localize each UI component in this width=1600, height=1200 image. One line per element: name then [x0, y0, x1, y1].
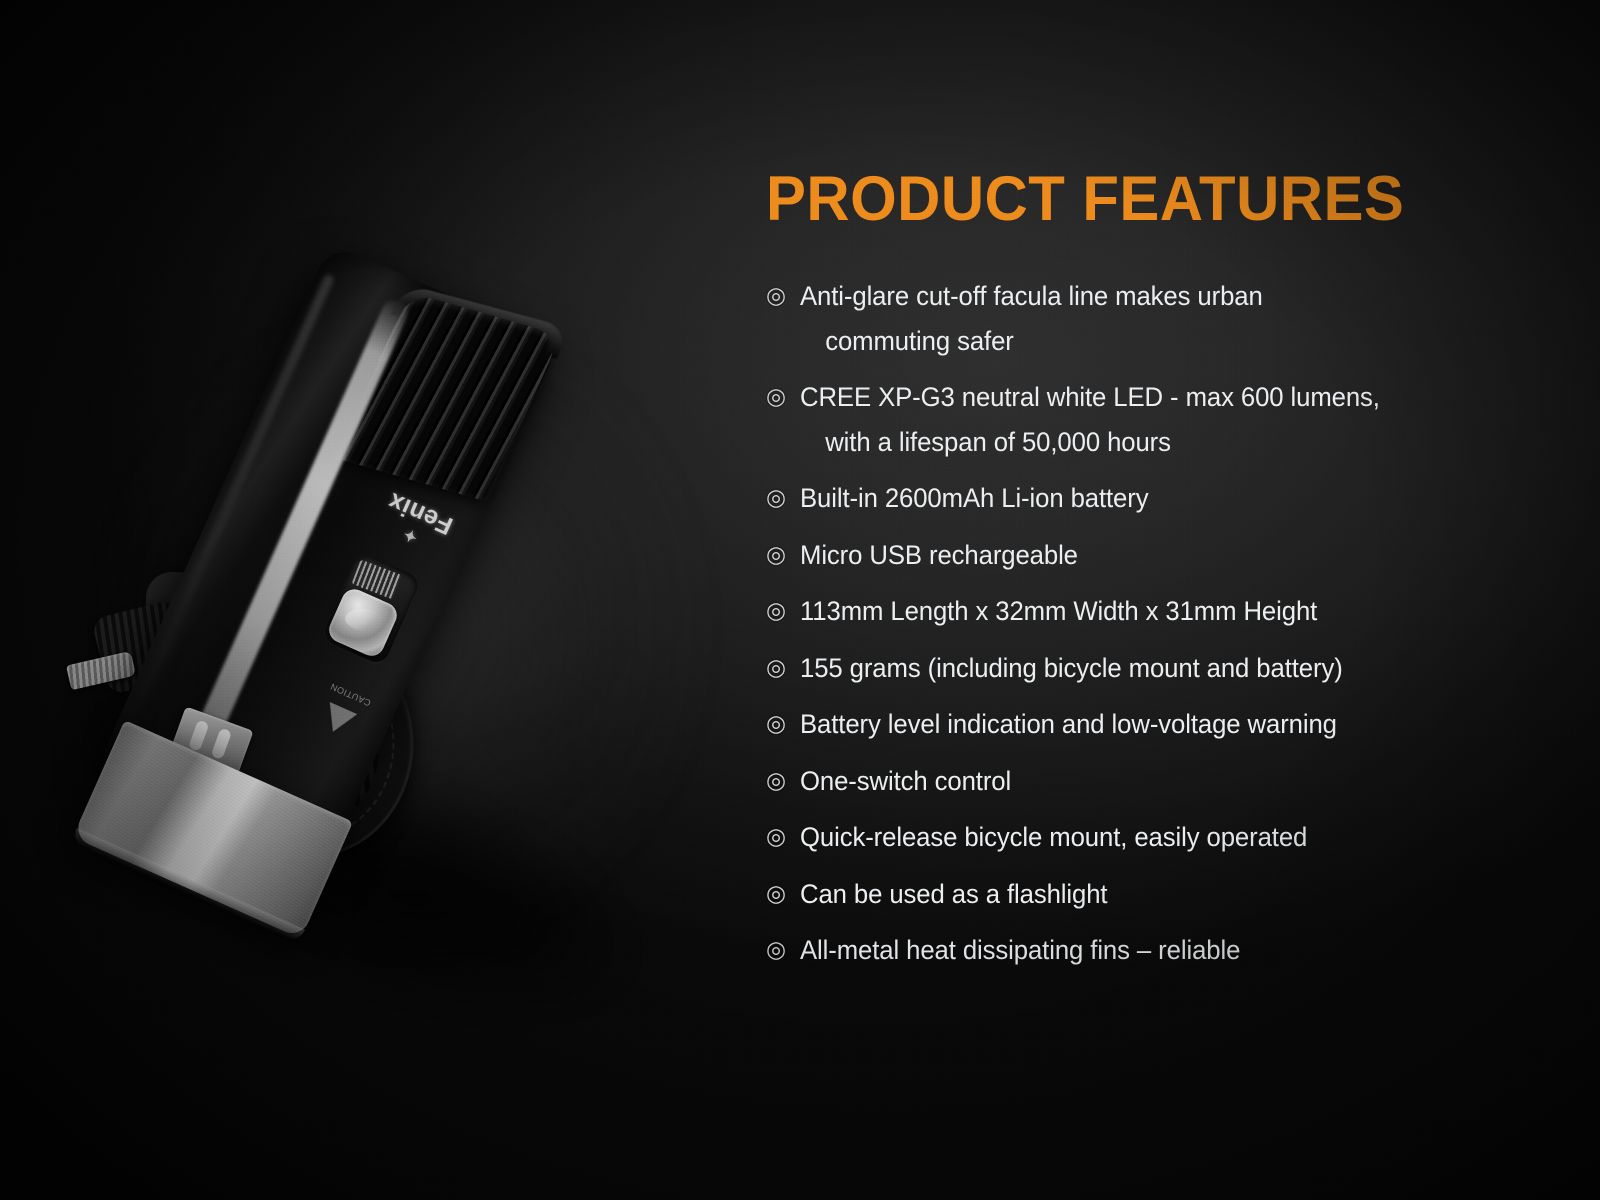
list-item: ◎ Micro USB rechargeable: [766, 542, 1506, 569]
feature-text-line2: commuting safer: [800, 328, 1485, 355]
feature-text: CREE XP-G3 neutral white LED - max 600 l…: [800, 384, 1485, 455]
list-item: ◎ 155 grams (including bicycle mount and…: [766, 655, 1506, 682]
list-item: ◎ Built-in 2600mAh Li-ion battery: [766, 485, 1506, 512]
list-item: ◎ Can be used as a flashlight: [766, 881, 1506, 908]
list-item: ◎ Anti-glare cut-off facula line makes u…: [766, 283, 1506, 354]
list-item: ◎ All-metal heat dissipating fins – reli…: [766, 937, 1506, 964]
list-item: ◎ Quick-release bicycle mount, easily op…: [766, 824, 1506, 851]
list-item: ◎ Battery level indication and low-volta…: [766, 711, 1506, 738]
product-features-slide: ✦ Fenix CAUTION PRODUCT FEATURES ◎ Anti-…: [0, 0, 1600, 1200]
list-item: ◎ 113mm Length x 32mm Width x 31mm Heigh…: [766, 598, 1506, 625]
feature-text: All-metal heat dissipating fins – reliab…: [800, 937, 1485, 964]
feature-text-line1: CREE XP-G3 neutral white LED - max 600 l…: [800, 382, 1380, 412]
page-title: PRODUCT FEATURES: [766, 168, 1469, 231]
double-circle-bullet-icon: ◎: [766, 824, 792, 850]
product-photo: ✦ Fenix CAUTION: [0, 0, 760, 1200]
feature-text: One-switch control: [800, 768, 1485, 795]
double-circle-bullet-icon: ◎: [766, 655, 792, 681]
feature-text: Can be used as a flashlight: [800, 881, 1485, 908]
feature-text: Micro USB rechargeable: [800, 542, 1485, 569]
feature-text: 113mm Length x 32mm Width x 31mm Height: [800, 598, 1485, 625]
feature-text: Anti-glare cut-off facula line makes urb…: [800, 283, 1485, 354]
list-item: ◎ CREE XP-G3 neutral white LED - max 600…: [766, 384, 1506, 455]
double-circle-bullet-icon: ◎: [766, 937, 792, 963]
feature-text-line1: Anti-glare cut-off facula line makes urb…: [800, 281, 1263, 311]
double-circle-bullet-icon: ◎: [766, 598, 792, 624]
list-item: ◎ One-switch control: [766, 768, 1506, 795]
features-panel: PRODUCT FEATURES ◎ Anti-glare cut-off fa…: [766, 168, 1506, 994]
double-circle-bullet-icon: ◎: [766, 384, 792, 410]
double-circle-bullet-icon: ◎: [766, 881, 792, 907]
double-circle-bullet-icon: ◎: [766, 283, 792, 309]
double-circle-bullet-icon: ◎: [766, 711, 792, 737]
feature-text: Built-in 2600mAh Li-ion battery: [800, 485, 1485, 512]
double-circle-bullet-icon: ◎: [766, 768, 792, 794]
feature-text: 155 grams (including bicycle mount and b…: [800, 655, 1485, 682]
feature-text-line2: with a lifespan of 50,000 hours: [800, 429, 1485, 456]
double-circle-bullet-icon: ◎: [766, 542, 792, 568]
feature-text: Battery level indication and low-voltage…: [800, 711, 1485, 738]
feature-list: ◎ Anti-glare cut-off facula line makes u…: [766, 283, 1506, 964]
double-circle-bullet-icon: ◎: [766, 485, 792, 511]
feature-text: Quick-release bicycle mount, easily oper…: [800, 824, 1485, 851]
